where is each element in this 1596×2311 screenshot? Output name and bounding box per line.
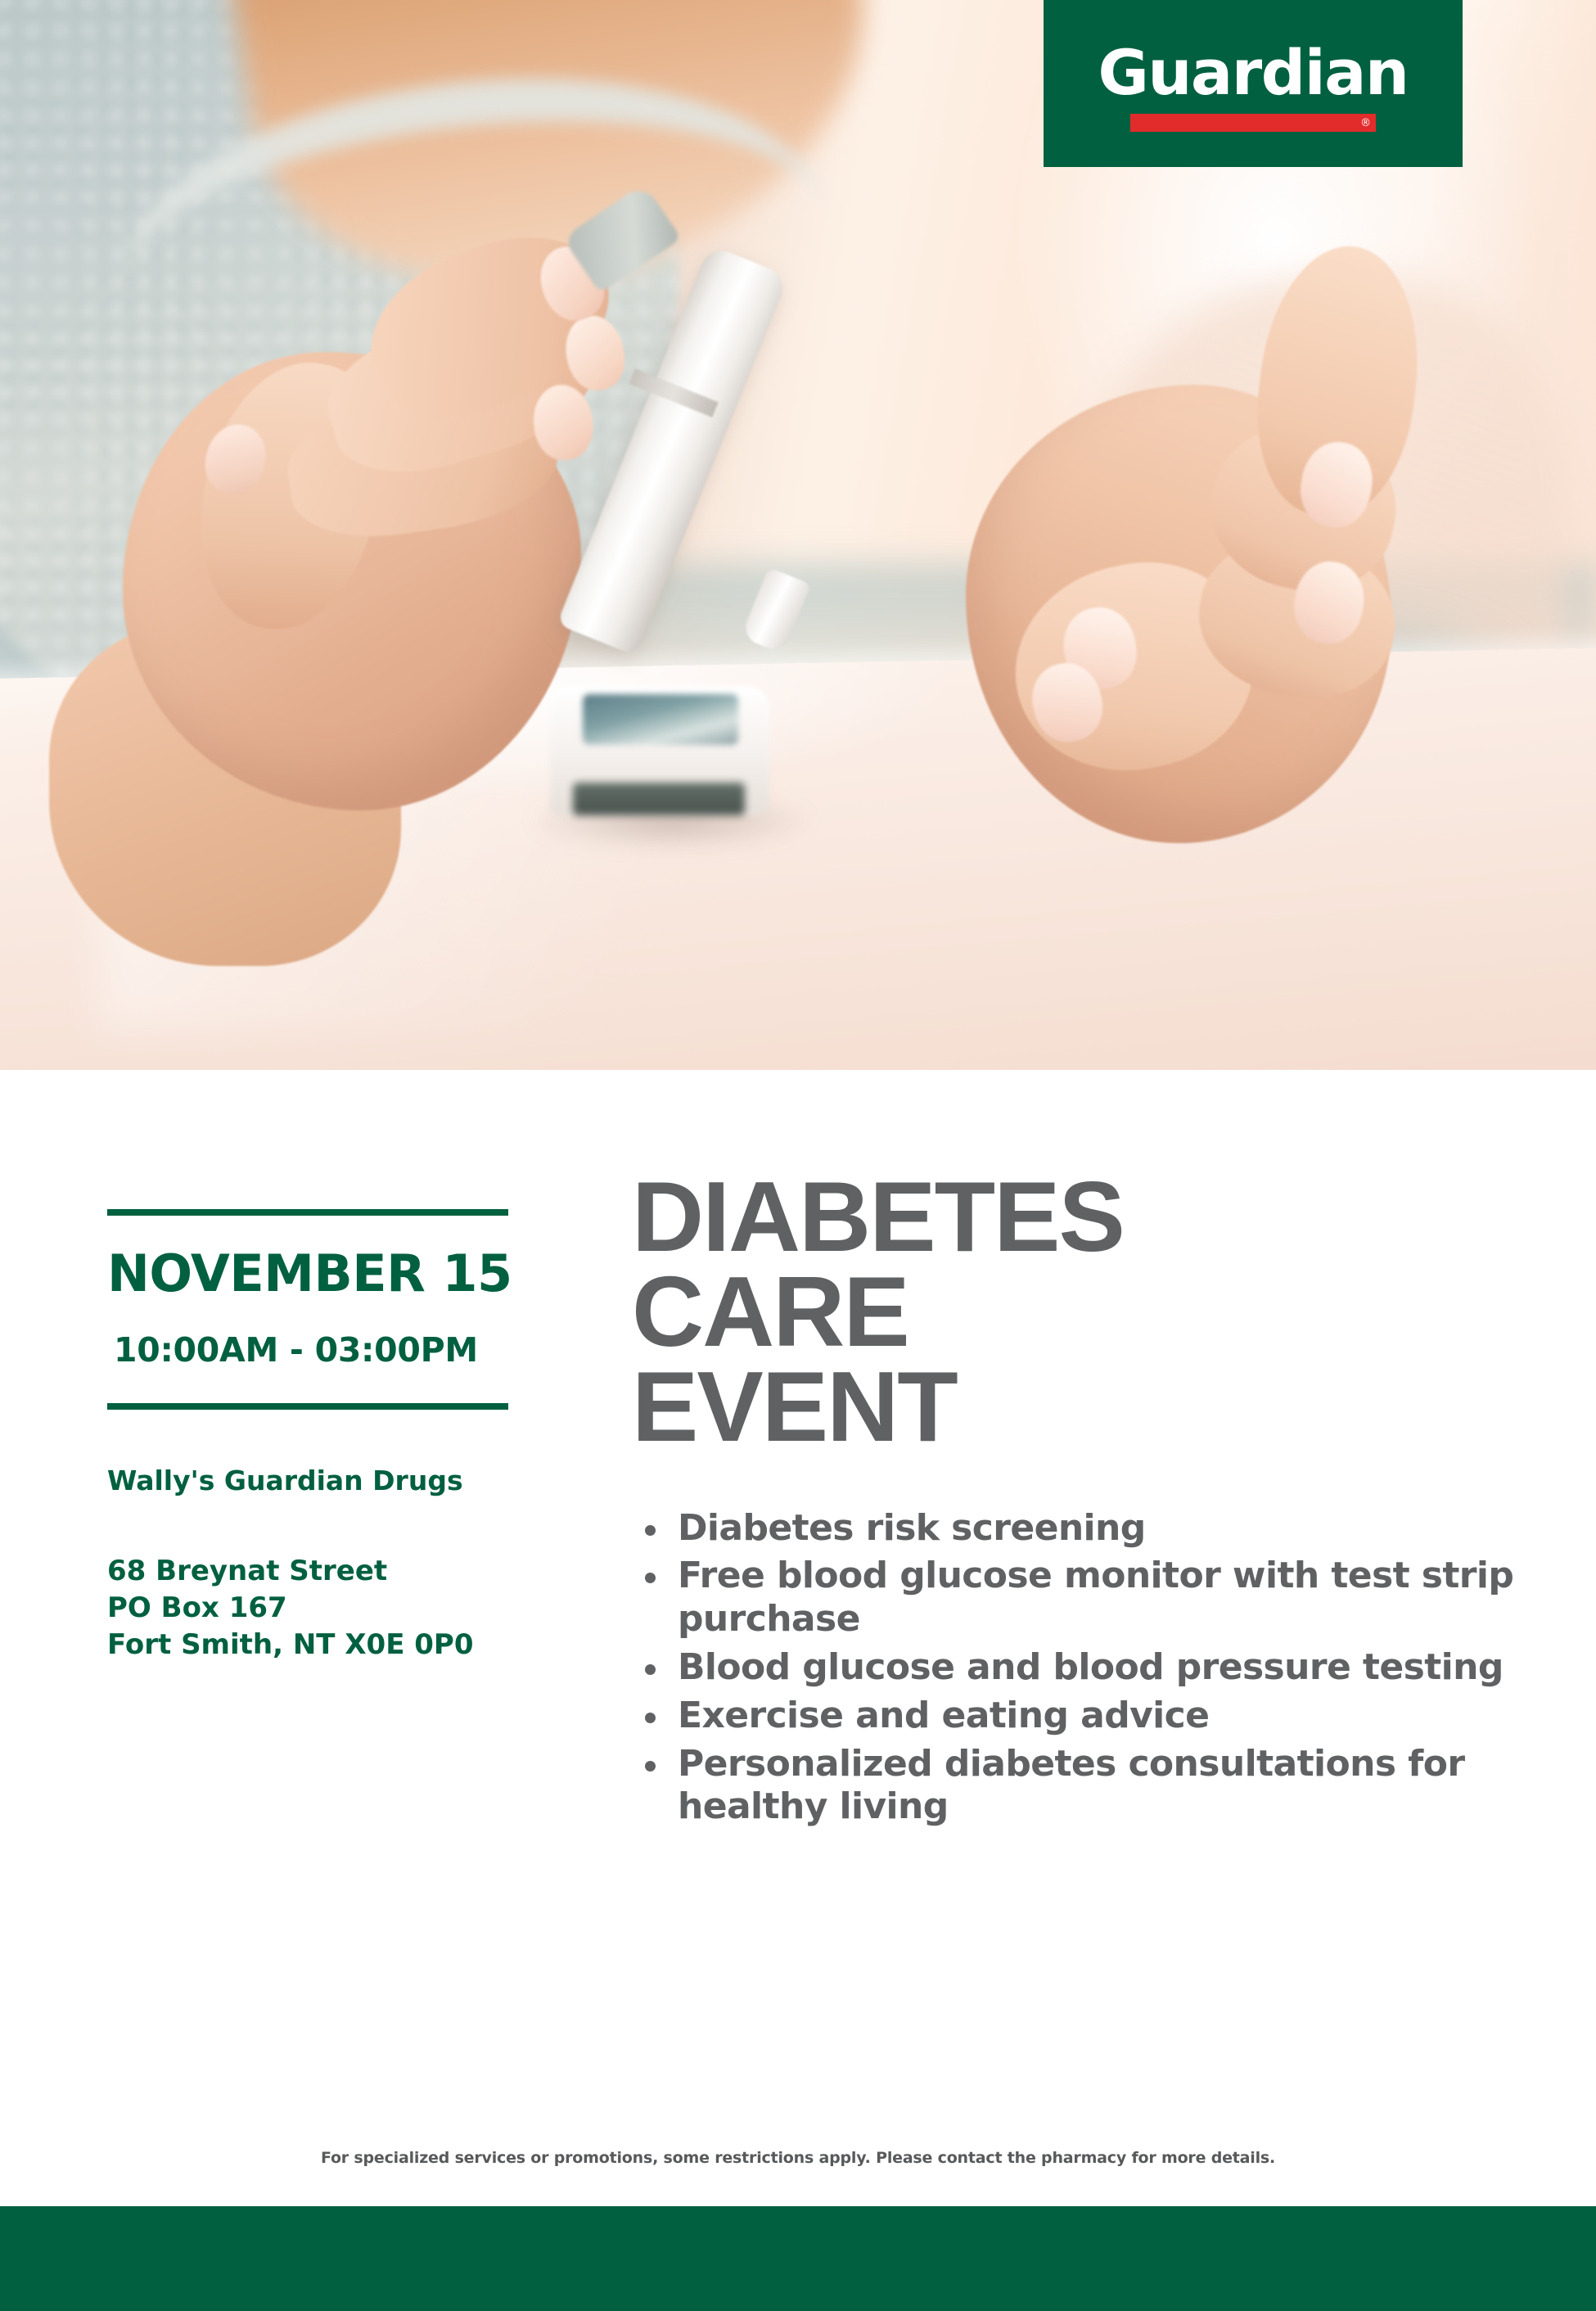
main-column: DIABETES CARE EVENT Diabetes risk screen…: [632, 1170, 1557, 1834]
list-item: Exercise and eating advice: [632, 1695, 1557, 1738]
services-list: Diabetes risk screening Free blood gluco…: [632, 1507, 1557, 1830]
address-line-2: PO Box 167: [107, 1590, 516, 1627]
glucose-meter-base: [573, 783, 745, 815]
footer-bar: [0, 2206, 1596, 2311]
address-line-3: Fort Smith, NT X0E 0P0: [107, 1627, 516, 1663]
event-details-column: NOVEMBER 15 10:00AM - 03:00PM Wally's Gu…: [107, 1209, 516, 1663]
event-time: 10:00AM - 03:00PM: [114, 1334, 516, 1367]
store-name: Wally's Guardian Drugs: [107, 1467, 516, 1494]
guardian-logo-wordmark: Guardian: [1098, 42, 1408, 104]
event-date: NOVEMBER 15: [107, 1248, 516, 1299]
list-item: Diabetes risk screening: [632, 1507, 1557, 1550]
divider-bottom: [107, 1403, 508, 1410]
list-item: Personalized diabetes consultations for …: [632, 1743, 1557, 1830]
headline-line-2: CARE: [632, 1265, 1557, 1360]
poster: Guardian ® NOVEMBER 15 10:00AM - 03:00PM…: [0, 0, 1596, 2311]
store-address: 68 Breynat Street PO Box 167 Fort Smith,…: [107, 1553, 516, 1663]
list-item: Blood glucose and blood pressure testing: [632, 1646, 1557, 1690]
guardian-logo-red-bar: ®: [1130, 114, 1376, 132]
page-title: DIABETES CARE EVENT: [632, 1170, 1557, 1455]
content-area: NOVEMBER 15 10:00AM - 03:00PM Wally's Gu…: [0, 1070, 1596, 2206]
disclaimer-text: For specialized services or promotions, …: [0, 2149, 1596, 2167]
registered-trademark-icon: ®: [1360, 118, 1371, 129]
headline-line-3: EVENT: [632, 1360, 1557, 1455]
glucose-meter-screen: [583, 694, 738, 745]
list-item: Free blood glucose monitor with test str…: [632, 1555, 1557, 1641]
headline-line-1: DIABETES: [632, 1170, 1557, 1265]
divider-top: [107, 1209, 508, 1216]
address-line-1: 68 Breynat Street: [107, 1553, 516, 1590]
guardian-logo: Guardian ®: [1044, 0, 1463, 167]
